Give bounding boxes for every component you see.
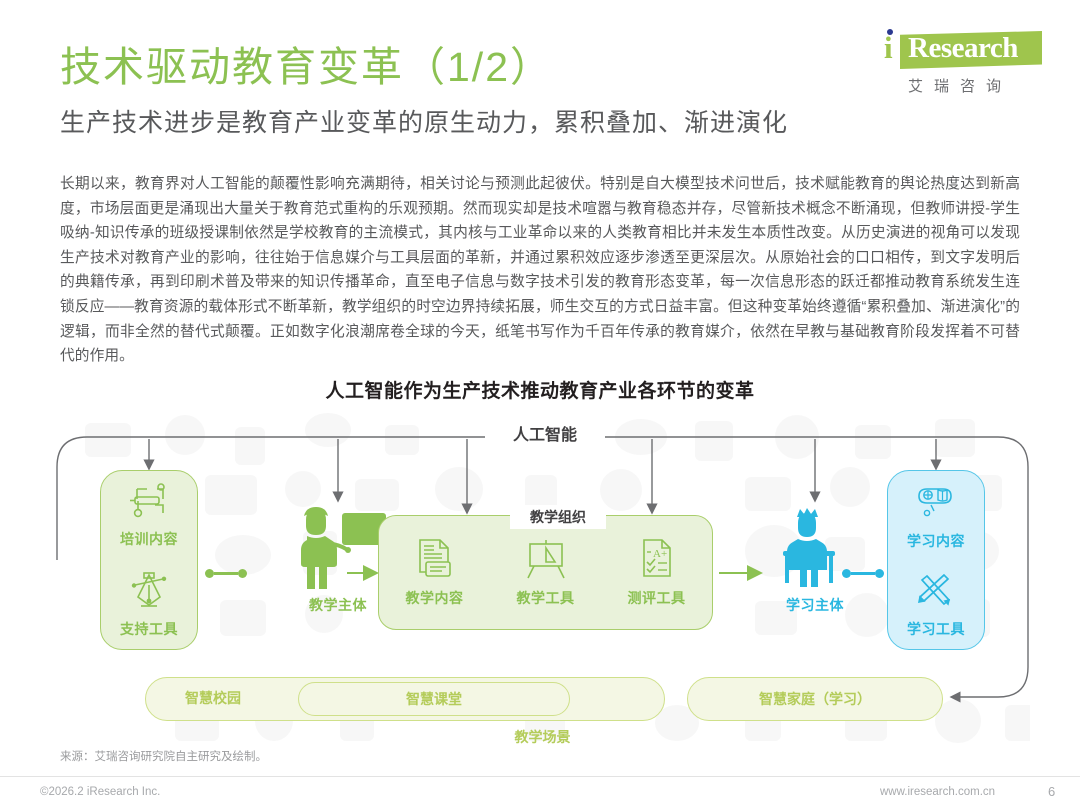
- teaching-organization-box: 教学内容 教学工具 A+: [378, 515, 713, 630]
- learning-tools-cell: 学习工具: [907, 571, 965, 639]
- learning-content-label: 学习内容: [907, 531, 965, 551]
- page-title: 技术驱动教育变革（1/2）: [60, 33, 553, 93]
- assessment-tools-cell: A+ 测评工具: [628, 538, 686, 608]
- smart-classroom-label: 智慧课堂: [406, 689, 462, 709]
- teacher-label: 教学主体: [309, 595, 367, 615]
- scenario-caption: 教学场景: [55, 727, 1030, 747]
- connector-training-teacher: [205, 569, 247, 578]
- learning-panel: 学习内容 学习工具: [887, 470, 985, 650]
- logo-i-letter: i: [884, 32, 893, 63]
- easel-board-icon: [523, 538, 569, 582]
- logo-wordmark: Research: [908, 33, 1018, 63]
- student-label: 学习主体: [786, 595, 844, 615]
- connector-dot: [842, 569, 851, 578]
- connector-student-learning: [842, 569, 884, 578]
- learning-content-cell: 学习内容: [907, 483, 965, 551]
- teacher-at-blackboard-icon: [286, 503, 390, 591]
- footer-page-number: 6: [1048, 784, 1055, 799]
- logo-chinese-name: 艾瑞咨询: [908, 75, 1012, 96]
- teacher-actor: 教学主体: [283, 503, 393, 615]
- svg-text:A+: A+: [653, 548, 667, 560]
- teaching-content-cell: 教学内容: [406, 538, 464, 608]
- training-content-label: 培训内容: [120, 529, 178, 549]
- pen-nib-icon: [127, 571, 171, 613]
- connector-dot: [875, 569, 884, 578]
- education-transformation-diagram: 人工智能 培训内容: [55, 405, 1030, 750]
- training-content-cell: 培训内容: [120, 483, 178, 549]
- pencil-ruler-cross-icon: [913, 571, 959, 613]
- thought-book-icon: [913, 483, 959, 525]
- teaching-tools-cell: 教学工具: [517, 538, 575, 608]
- footer-divider: [0, 776, 1080, 777]
- student-actor: 学习主体: [760, 503, 870, 615]
- training-panel: 培训内容 支持工具: [100, 470, 198, 650]
- smart-campus-label: 智慧校园: [185, 688, 241, 708]
- body-paragraph: 长期以来，教育界对人工智能的颠覆性影响充满期待，相关讨论与预测此起彼伏。特别是自…: [60, 172, 1020, 369]
- pencil-ruler-icon: [127, 483, 171, 523]
- page-subtitle: 生产技术进步是教育产业变革的原生动力，累积叠加、渐进演化: [60, 103, 788, 139]
- connector-line: [214, 572, 238, 575]
- document-stack-icon: [412, 538, 458, 582]
- diagram-title: 人工智能作为生产技术推动教育产业各环节的变革: [0, 376, 1080, 403]
- teaching-tools-label: 教学工具: [517, 588, 575, 608]
- logo-mark: i Research: [874, 27, 1044, 73]
- teaching-content-label: 教学内容: [406, 588, 464, 608]
- teaching-organization-tag: 教学组织: [510, 505, 606, 529]
- connector-dot: [205, 569, 214, 578]
- graded-test-icon: A+: [634, 538, 680, 582]
- connector-dot: [238, 569, 247, 578]
- connector-line: [851, 572, 875, 575]
- ai-label: 人工智能: [485, 419, 605, 447]
- slide-page: 技术驱动教育变革（1/2） 生产技术进步是教育产业变革的原生动力，累积叠加、渐进…: [0, 0, 1080, 810]
- assessment-tools-label: 测评工具: [628, 588, 686, 608]
- support-tools-cell: 支持工具: [120, 571, 178, 639]
- iresearch-logo: i Research 艾瑞咨询: [874, 27, 1044, 99]
- source-note: 来源：艾瑞咨询研究院自主研究及绘制。: [60, 748, 267, 764]
- smart-classroom-box: 智慧课堂: [298, 682, 570, 716]
- footer-copyright: ©2026.2 iResearch Inc.: [40, 786, 160, 798]
- smart-home-label: 智慧家庭（学习）: [759, 689, 871, 709]
- support-tools-label: 支持工具: [120, 619, 178, 639]
- smart-home-box: 智慧家庭（学习）: [687, 677, 943, 721]
- footer-website: www.iresearch.com.cn: [880, 786, 995, 798]
- learning-tools-label: 学习工具: [907, 619, 965, 639]
